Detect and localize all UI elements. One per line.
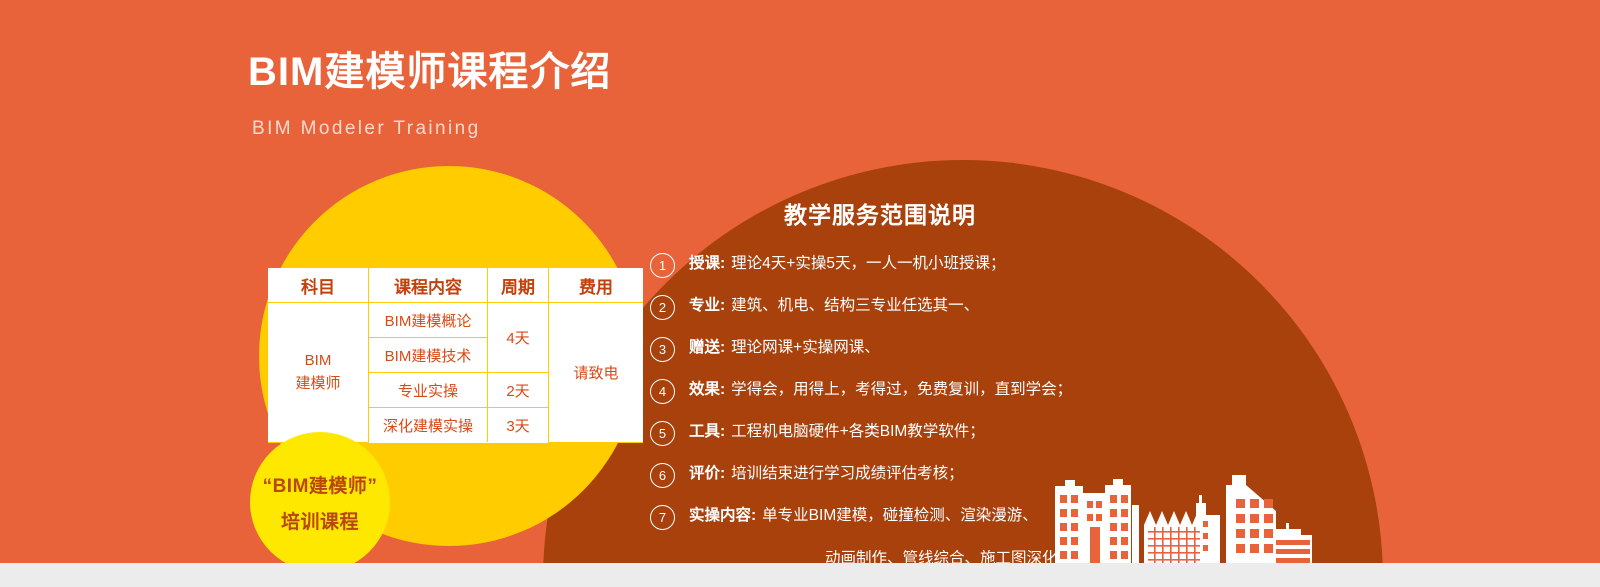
list-item-label: 实操内容: [689,504,756,527]
cell-content: 专业实操 [369,373,488,408]
training-course-badge: “BIM建模师” 培训课程 [250,432,390,563]
list-item-text: 理论4天+实操5天，一人一机小班授课； [731,252,1005,275]
list-item-text: 单专业BIM建模，碰撞检测、渲染漫游、 [762,504,1038,527]
cell-content: BIM建模技术 [369,338,488,373]
table-body: BIM 建模师 BIM建模概论 4天 请致电 BIM建模技术 专业实操 2天 深… [268,303,643,443]
list-item-label: 效果: [689,378,725,401]
list-number-icon: 3 [650,337,675,362]
service-panel-title: 教学服务范围说明 [650,196,1110,230]
list-item-text: 工程机电脑硬件+各类BIM教学软件； [731,420,985,443]
cell-subject: BIM 建模师 [268,303,369,443]
list-number-icon: 2 [650,295,675,320]
list-item: 2 专业: 建筑、机电、结构三专业任选其一、 [650,294,1290,320]
column-header-content: 课程内容 [369,268,488,303]
table-header-row: 科目 课程内容 周期 费用 [268,268,643,303]
course-table: 科目 课程内容 周期 费用 BIM 建模师 BIM建模概论 4天 请致电 [268,268,643,443]
list-item-label: 授课: [689,252,725,275]
subject-line-1: BIM [268,349,368,372]
subject-line-2: 建模师 [268,372,368,395]
badge-line-2: 培训课程 [281,507,359,534]
list-item-text: 建筑、机电、结构三专业任选其一、 [731,294,979,317]
course-table-container: 科目 课程内容 周期 费用 BIM 建模师 BIM建模概论 4天 请致电 [268,268,640,443]
list-item: 1 授课: 理论4天+实操5天，一人一机小班授课； [650,252,1290,278]
promo-banner: BIM建模师课程介绍 BIM Modeler Training 科目 课程内容 … [0,0,1600,563]
badge-line-1: “BIM建模师” [263,471,378,498]
list-item: 4 效果: 学得会，用得上，考得过，免费复训，直到学会； [650,378,1290,404]
page-subtitle: BIM Modeler Training [252,118,481,140]
cell-fee: 请致电 [549,303,644,443]
list-number-icon: 5 [650,421,675,446]
table-row: BIM 建模师 BIM建模概论 4天 请致电 [268,303,643,338]
list-number-icon: 7 [650,505,675,530]
city-skyline-icon [1020,443,1320,563]
list-item-label: 评价: [689,462,725,485]
cell-content: BIM建模概论 [369,303,488,338]
cell-period: 3天 [488,408,549,443]
list-number-icon: 4 [650,379,675,404]
cell-content: 深化建模实操 [369,408,488,443]
cell-period: 4天 [488,303,549,373]
column-header-period: 周期 [488,268,549,303]
table-header: 科目 课程内容 周期 费用 [268,268,643,303]
list-item: 3 赠送: 理论网课+实操网课、 [650,336,1290,362]
footer-strip [0,563,1600,587]
column-header-fee: 费用 [549,268,644,303]
list-item-text: 培训结束进行学习成绩评估考核； [731,462,964,485]
list-item-label: 专业: [689,294,725,317]
page-title: BIM建模师课程介绍 [248,50,611,94]
list-item-label: 工具: [689,420,725,443]
list-number-icon: 6 [650,463,675,488]
list-item-text: 学得会，用得上，考得过，免费复训，直到学会； [731,378,1072,401]
list-item-label: 赠送: [689,336,725,359]
column-header-subject: 科目 [268,268,369,303]
list-item-text: 理论网课+实操网课、 [731,336,880,359]
cell-period: 2天 [488,373,549,408]
list-number-icon: 1 [650,253,675,278]
